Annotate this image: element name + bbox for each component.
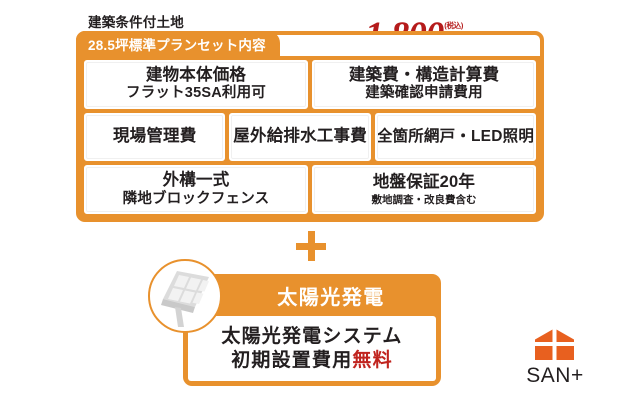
plan-item-title: 外構一式 [163,171,230,190]
plan-item-screens-led: 全箇所網戸・LED照明 [375,113,536,162]
solar-cost-prefix: 初期設置費用 [231,350,352,371]
plan-item-sub: 隣地ブロックフェンス [123,191,270,209]
plan-row-2: 現場管理費 屋外給排水工事費 全箇所網戸・LED照明 [84,113,536,162]
promo-graphic: 建築条件付土地 建物価格 1,800 (税込) 万円 28.5坪標準プランセット… [0,0,620,413]
plan-item-title: 建築費・構造計算費 [349,66,499,85]
brand-name: SAN+ [511,365,599,386]
standard-plan-panel: 28.5坪標準プランセット内容 建物本体価格 フラット35SA利用可 建築費・構… [76,31,544,222]
solar-header-label: 太陽光発電 [239,281,385,310]
brand-logo: SAN+ [511,328,599,390]
plan-item-building-price: 建物本体価格 フラット35SA利用可 [84,60,308,109]
house-logo-icon [533,328,577,362]
plan-item-sub: フラット35SA利用可 [126,85,266,103]
plan-item-title: 建物本体価格 [146,66,246,85]
plan-item-site-management: 現場管理費 [84,113,225,162]
solar-system-line: 太陽光発電システム [221,325,402,349]
plan-item-outdoor-plumbing: 屋外給排水工事費 [229,113,370,162]
plan-item-ground-warranty: 地盤保証20年 敷地調査・改良費含む [312,165,536,214]
plan-panel-tab: 28.5坪標準プランセット内容 [76,31,280,56]
land-condition-caption: 建築条件付土地 [88,11,184,31]
plan-item-title: 地盤保証20年 [373,173,475,192]
plan-item-sub: 建築確認申請費用 [365,85,483,103]
solar-panel-icon [148,259,222,333]
solar-panel-body: 太陽光発電システム 初期設置費用無料 [188,316,436,381]
solar-cost-line: 初期設置費用無料 [231,349,393,373]
plus-icon [296,231,326,261]
plan-panel-tab-label: 28.5坪標準プランセット内容 [88,34,266,54]
solar-cost-free-badge: 無料 [352,350,392,371]
plan-item-title: 全箇所網戸・LED照明 [377,128,534,146]
plan-row-3: 外構一式 隣地ブロックフェンス 地盤保証20年 敷地調査・改良費含む [84,165,536,214]
plan-item-exterior-set: 外構一式 隣地ブロックフェンス [84,165,308,214]
plan-item-construction-fees: 建築費・構造計算費 建築確認申請費用 [312,60,536,109]
plan-row-1: 建物本体価格 フラット35SA利用可 建築費・構造計算費 建築確認申請費用 [84,60,536,109]
plan-item-title: 現場管理費 [113,127,197,146]
plan-item-title: 屋外給排水工事費 [233,127,367,146]
plan-items-grid: 建物本体価格 フラット35SA利用可 建築費・構造計算費 建築確認申請費用 現場… [80,56,540,218]
plan-item-sub: 敷地調査・改良費含む [372,194,477,207]
